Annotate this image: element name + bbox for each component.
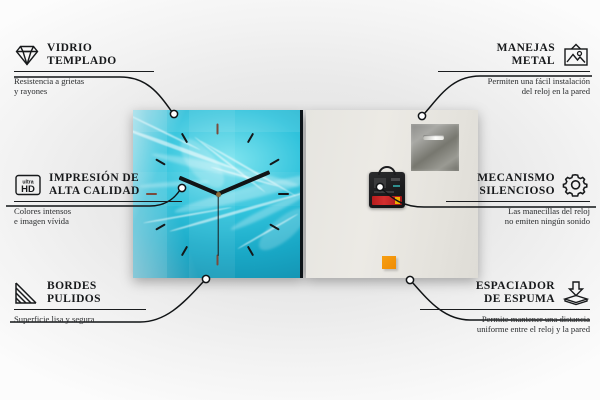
infographic-canvas: VIDRIO TEMPLADO Resistencia a grietas y … xyxy=(0,0,600,400)
battery-terminal xyxy=(395,197,400,204)
feature-desc-line1: Las manecillas del reloj xyxy=(446,206,590,216)
feature-desc-line2: no emiten ningún sonido xyxy=(446,216,590,226)
feature-title-line2: SILENCIOSO xyxy=(477,185,555,198)
battery-label xyxy=(372,196,402,205)
feature-desc-line1: Superficie lisa y segura xyxy=(14,314,146,324)
feature-desc-line2: del reloj en la pared xyxy=(438,86,590,96)
picture-hanger-icon xyxy=(562,42,590,68)
feature-title-line1: MANEJAS xyxy=(497,42,555,55)
feature-underline xyxy=(438,71,590,72)
feature-title-line2: ALTA CALIDAD xyxy=(49,185,140,198)
quartz-movement xyxy=(369,172,405,208)
feature-bordes-pulidos: BORDES PULIDOS Superficie lisa y segura xyxy=(14,280,146,324)
movement-hook xyxy=(378,166,396,175)
feature-title-line2: DE ESPUMA xyxy=(476,293,555,306)
feature-vidrio-templado: VIDRIO TEMPLADO Resistencia a grietas y … xyxy=(14,42,154,97)
svg-text:HD: HD xyxy=(21,184,35,195)
feature-title-line2: TEMPLADO xyxy=(47,55,117,68)
feature-title-line1: IMPRESIÓN DE xyxy=(49,172,140,185)
feature-title-line1: BORDES xyxy=(47,280,101,293)
ultra-hd-badge-icon: ultra HD xyxy=(14,172,42,198)
diamond-icon xyxy=(14,43,40,67)
gear-icon xyxy=(562,172,590,198)
feature-espaciador-espuma: ESPACIADOR DE ESPUMA Permite mantener un… xyxy=(420,280,590,335)
feature-title-line1: MECANISMO xyxy=(477,172,555,185)
clock-center-cap xyxy=(216,192,221,197)
feature-underline xyxy=(14,309,146,310)
foam-spacer-pad xyxy=(382,256,396,269)
polished-edge-hatch-icon xyxy=(14,281,40,305)
feature-mecanismo-silencioso: MECANISMO SILENCIOSO Las manecillas del … xyxy=(446,172,590,227)
feature-underline xyxy=(420,309,590,310)
feature-desc-line2: uniforme entre el reloj y la pared xyxy=(420,324,590,334)
feature-desc-line1: Resistencia a grietas xyxy=(14,76,154,86)
product-image xyxy=(133,110,478,278)
foam-spacer-arrow-icon xyxy=(562,280,590,306)
clock-second-hand xyxy=(217,194,218,256)
hanger-slot xyxy=(423,135,444,140)
feature-underline xyxy=(446,201,590,202)
feature-title-line1: ESPACIADOR xyxy=(476,280,555,293)
feature-manejas-metal: MANEJAS METAL Permiten una fácil instala… xyxy=(438,42,590,97)
feature-underline xyxy=(14,201,182,202)
feature-title-line2: PULIDOS xyxy=(47,293,101,306)
feature-underline xyxy=(14,71,154,72)
feature-desc-line1: Permite mantener una distancia xyxy=(420,314,590,324)
feature-impresion-alta-calidad: ultra HD IMPRESIÓN DE ALTA CALIDAD Color… xyxy=(14,172,182,227)
feature-title-line2: METAL xyxy=(497,55,555,68)
feature-desc-line2: y rayones xyxy=(14,86,154,96)
feature-desc-line1: Colores intensos xyxy=(14,206,182,216)
feature-desc-line1: Permiten una fácil instalación xyxy=(438,76,590,86)
metal-hanger-plate xyxy=(411,124,459,171)
feature-title-line1: VIDRIO xyxy=(47,42,117,55)
feature-desc-line2: e imagen vívida xyxy=(14,216,182,226)
